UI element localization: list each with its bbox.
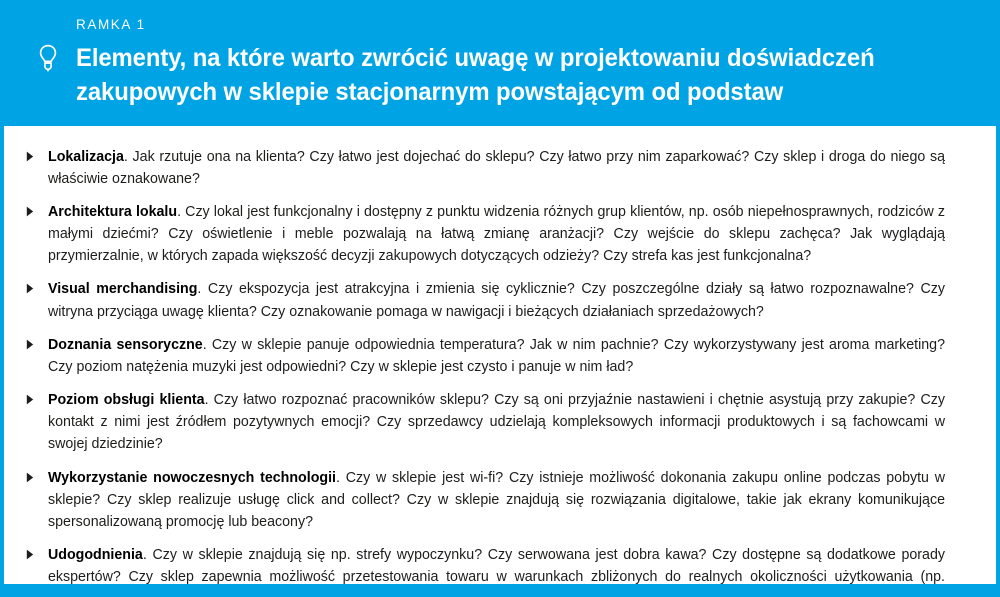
list-item-text: Architektura lokalu. Czy lokal jest funk…	[48, 201, 945, 268]
list-item-rest: . Czy lokal jest funkcjonalny i dostępny…	[48, 204, 945, 264]
list-item: Udogodnienia. Czy w sklepie znajdują się…	[26, 544, 968, 583]
header-text-block: RAMKA 1 Elementy, na które warto zwrócić…	[70, 18, 956, 110]
triangle-right-icon	[26, 389, 48, 405]
triangle-right-icon	[26, 467, 48, 483]
callout-body-panel: Lokalizacja. Jak rzutuje ona na klienta?…	[4, 126, 996, 584]
list-item-lead: Poziom obsługi klienta	[48, 392, 205, 408]
list-item-text: Wykorzystanie nowoczesnych technologii. …	[48, 467, 945, 534]
list-item: Poziom obsługi klienta. Czy łatwo rozpoz…	[26, 389, 968, 456]
list-item: Architektura lokalu. Czy lokal jest funk…	[26, 201, 968, 268]
list-item-text: Udogodnienia. Czy w sklepie znajdują się…	[48, 544, 945, 583]
triangle-right-icon	[26, 278, 48, 294]
lightbulb-icon	[37, 44, 59, 72]
list-item-text: Visual merchandising. Czy ekspozycja jes…	[48, 278, 945, 322]
list-item-lead: Udogodnienia	[48, 547, 143, 563]
lightbulb-icon-wrap	[26, 18, 70, 72]
list-item: Wykorzystanie nowoczesnych technologii. …	[26, 467, 968, 534]
triangle-right-icon	[26, 146, 48, 162]
list-item-lead: Lokalizacja	[48, 149, 124, 165]
list-item-rest: . Jak rzutuje ona na klienta? Czy łatwo …	[48, 149, 945, 187]
list-item-text: Poziom obsługi klienta. Czy łatwo rozpoz…	[48, 389, 945, 456]
list-item-rest: . Czy w sklepie znajdują się np. strefy …	[48, 547, 945, 583]
callout-box: RAMKA 1 Elementy, na które warto zwrócić…	[0, 0, 1000, 597]
callout-title: Elementy, na które warto zwrócić uwagę w…	[76, 41, 916, 110]
list-item-lead: Doznania sensoryczne	[48, 337, 203, 353]
list-item-text: Lokalizacja. Jak rzutuje ona na klienta?…	[48, 146, 945, 190]
list-item: Visual merchandising. Czy ekspozycja jes…	[26, 278, 968, 322]
list-item: Doznania sensoryczne. Czy w sklepie panu…	[26, 334, 968, 378]
list-item-lead: Visual merchandising	[48, 281, 197, 297]
list-item-text: Doznania sensoryczne. Czy w sklepie panu…	[48, 334, 945, 378]
triangle-right-icon	[26, 334, 48, 350]
callout-eyebrow: RAMKA 1	[76, 18, 956, 32]
callout-header: RAMKA 1 Elementy, na które warto zwrócić…	[4, 0, 996, 126]
checklist: Lokalizacja. Jak rzutuje ona na klienta?…	[26, 146, 968, 584]
list-item-lead: Architektura lokalu	[48, 204, 177, 220]
triangle-right-icon	[26, 201, 48, 217]
list-item-lead: Wykorzystanie nowoczesnych technologii	[48, 470, 336, 486]
triangle-right-icon	[26, 544, 48, 560]
list-item: Lokalizacja. Jak rzutuje ona na klienta?…	[26, 146, 968, 190]
bottom-accent-bar	[0, 589, 1000, 597]
